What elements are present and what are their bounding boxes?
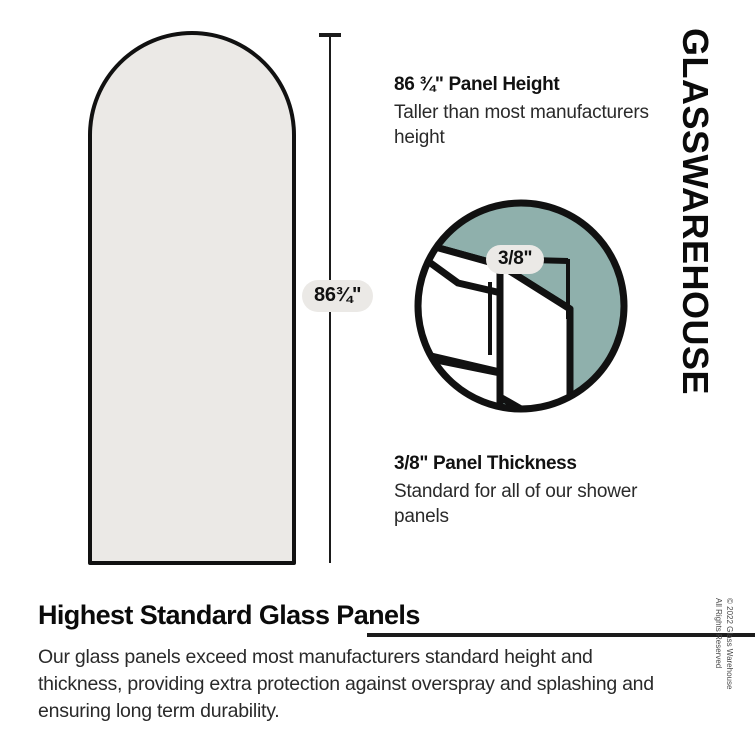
callout-panel-height-body: Taller than most manufacturers height bbox=[394, 100, 656, 151]
callout-panel-thickness: 3/8" Panel Thickness Standard for all of… bbox=[394, 452, 656, 529]
bottom-text-block: Highest Standard Glass Panels Our glass … bbox=[38, 600, 656, 725]
copyright-line-1: © 2022 Glass Warehouse bbox=[723, 598, 734, 689]
infographic-canvas: 86¾" 86 ¾" Panel Height Taller than most… bbox=[0, 0, 755, 755]
arched-glass-panel-illustration bbox=[88, 31, 296, 565]
callout-panel-height: 86 ¾" Panel Height Taller than most manu… bbox=[394, 73, 656, 150]
callout-panel-thickness-title: 3/8" Panel Thickness bbox=[394, 452, 656, 476]
page-description: Our glass panels exceed most manufacture… bbox=[38, 644, 656, 725]
brand-wordmark: GLASSWAREHOUSE bbox=[668, 20, 724, 440]
glass-panel-shape bbox=[88, 31, 296, 565]
copyright-line-2: All Rights Reserved bbox=[712, 598, 723, 689]
thickness-detail-circle: 3/8" bbox=[412, 197, 630, 415]
callout-panel-thickness-body: Standard for all of our shower panels bbox=[394, 479, 656, 530]
thickness-dimension-label: 3/8" bbox=[486, 245, 544, 274]
copyright-notice: © 2022 Glass Warehouse All Rights Reserv… bbox=[700, 598, 740, 718]
dimension-cap-top bbox=[319, 33, 341, 37]
brand-wordmark-text: GLASSWAREHOUSE bbox=[674, 28, 716, 395]
height-dimension-label: 86¾" bbox=[302, 280, 373, 312]
page-title: Highest Standard Glass Panels bbox=[38, 600, 656, 632]
callout-panel-height-title: 86 ¾" Panel Height bbox=[394, 73, 656, 97]
